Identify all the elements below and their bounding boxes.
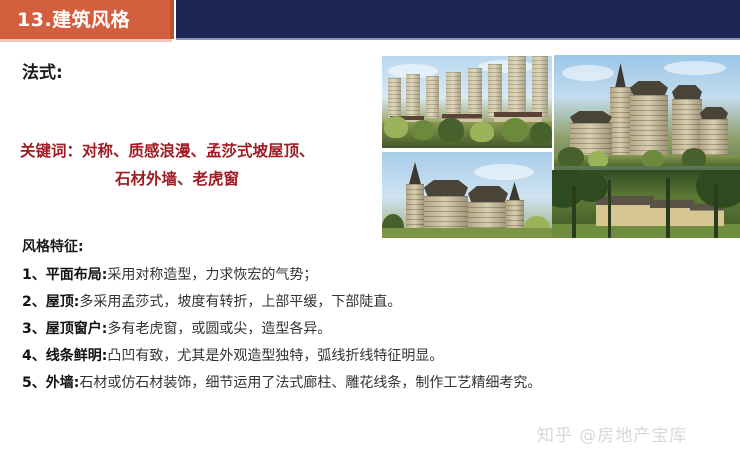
feature-label: 外墙: bbox=[46, 375, 80, 391]
tree-trunk-shape bbox=[714, 184, 718, 238]
building-shape bbox=[610, 87, 632, 159]
feature-row: 3、屋顶窗户:多有老虎窗，或圆或尖，造型各异。 bbox=[22, 316, 732, 343]
villa-shape bbox=[650, 200, 694, 226]
watermark: 知乎 @房地产宝库 bbox=[537, 421, 687, 446]
feature-text: 凸凹有致，尤其是外观造型独特，弧线折线特征明显。 bbox=[107, 348, 443, 364]
header-navy-underline bbox=[176, 38, 740, 40]
tree-shape bbox=[470, 122, 494, 142]
tree-trunk-shape bbox=[572, 186, 576, 238]
keywords-line-2: 石材外墙、老虎窗 bbox=[20, 165, 380, 193]
tower-shape bbox=[426, 76, 439, 118]
feature-row: 2、屋顶:多采用孟莎式，坡度有转折，上部平缓，下部陡直。 bbox=[22, 289, 732, 316]
presentation-slide: 13.建筑风格 法式: 关键词：对称、质感浪漫、孟莎式坡屋顶、 石材外墙、老虎窗… bbox=[0, 0, 740, 463]
mansard-midrise-photo bbox=[554, 55, 740, 180]
tree-trunk-shape bbox=[666, 178, 670, 238]
feature-text: 多有老虎窗，或圆或尖，造型各异。 bbox=[107, 321, 331, 337]
tower-shape bbox=[532, 56, 548, 118]
header-orange-shadow bbox=[0, 39, 172, 42]
high-rise-towers-photo bbox=[382, 56, 552, 148]
tower-shape bbox=[406, 74, 420, 118]
feature-index: 3、 bbox=[22, 321, 46, 337]
tree-shape bbox=[530, 122, 552, 144]
cloud-shape bbox=[664, 61, 726, 75]
feature-text: 采用对称造型，力求恢宏的气势； bbox=[107, 267, 317, 283]
feature-label: 屋顶窗户: bbox=[46, 321, 108, 337]
feature-row: 1、平面布局:采用对称造型，力求恢宏的气势； bbox=[22, 262, 732, 289]
feature-index: 2、 bbox=[22, 294, 46, 310]
features-list: 1、平面布局:采用对称造型，力求恢宏的气势； 2、屋顶:多采用孟莎式，坡度有转折… bbox=[22, 262, 732, 397]
tree-shape bbox=[502, 118, 528, 142]
tower-shape bbox=[446, 72, 461, 118]
cloud-shape bbox=[474, 164, 534, 180]
feature-text: 多采用孟莎式，坡度有转折，上部平缓，下部陡直。 bbox=[79, 294, 401, 310]
slide-header: 13.建筑风格 bbox=[0, 0, 740, 39]
feature-label: 屋顶: bbox=[46, 294, 80, 310]
tree-shape bbox=[682, 148, 706, 168]
tree-canopy-shape bbox=[696, 170, 740, 208]
feature-label: 线条鲜明: bbox=[46, 348, 108, 364]
header-orange-edge bbox=[170, 0, 174, 39]
feature-index: 5、 bbox=[22, 375, 46, 391]
tree-shape bbox=[558, 147, 584, 167]
tower-shape bbox=[488, 64, 502, 118]
feature-row: 5、外墙:石材或仿石材装饰，细节运用了法式廊柱、雕花线条，制作工艺精细考究。 bbox=[22, 370, 732, 397]
page-title: 13.建筑风格 bbox=[17, 8, 130, 32]
features-heading: 风格特征: bbox=[22, 236, 84, 256]
tree-shape bbox=[384, 116, 408, 138]
feature-index: 4、 bbox=[22, 348, 46, 364]
tower-shape bbox=[468, 68, 482, 118]
keywords-block: 关键词：对称、质感浪漫、孟莎式坡屋顶、 石材外墙、老虎窗 bbox=[20, 137, 380, 193]
feature-row: 4、线条鲜明:凸凹有致，尤其是外观造型独特，弧线折线特征明显。 bbox=[22, 343, 732, 370]
villa-shape bbox=[596, 196, 654, 226]
tree-shape bbox=[412, 120, 434, 140]
feature-text: 石材或仿石材装饰，细节运用了法式廊柱、雕花线条，制作工艺精细考究。 bbox=[79, 375, 541, 391]
tree-canopy-shape bbox=[574, 172, 608, 202]
feature-label: 平面布局: bbox=[46, 267, 108, 283]
chateau-tower-photo bbox=[382, 152, 552, 238]
cloud-shape bbox=[562, 65, 614, 81]
keywords-line-1: 关键词：对称、质感浪漫、孟莎式坡屋顶、 bbox=[20, 137, 380, 165]
tower-shape bbox=[388, 78, 401, 118]
tree-trunk-shape bbox=[608, 180, 611, 238]
feature-index: 1、 bbox=[22, 267, 46, 283]
header-navy-band bbox=[176, 0, 740, 38]
tree-shape bbox=[438, 118, 464, 142]
villas-behind-trees-photo bbox=[546, 170, 740, 238]
image-collage bbox=[380, 52, 740, 238]
tower-shape bbox=[508, 56, 526, 118]
lawn-shape bbox=[382, 228, 552, 238]
style-name-label: 法式: bbox=[22, 58, 63, 83]
